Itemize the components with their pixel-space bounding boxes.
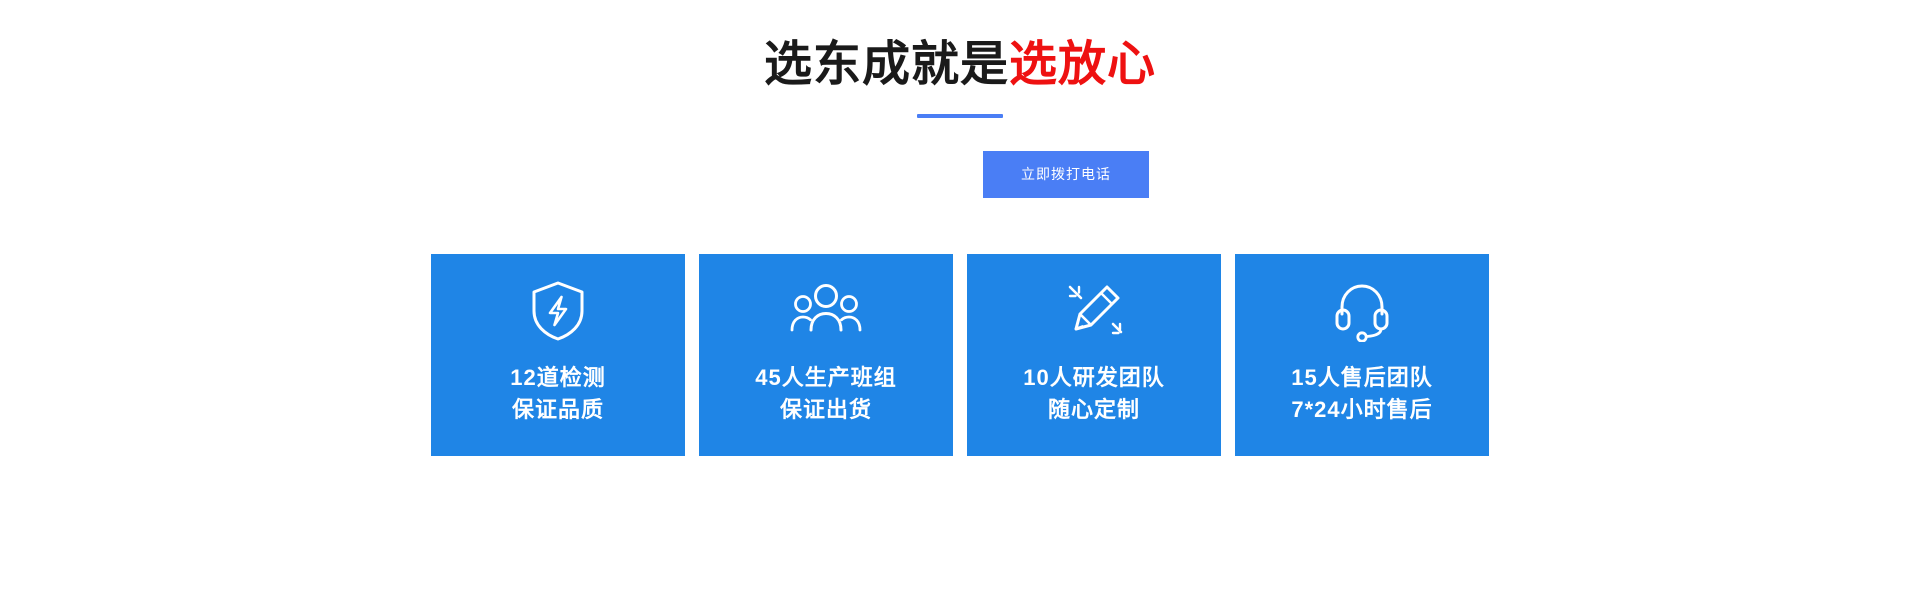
feature-card[interactable]: 12道检测保证品质: [431, 254, 685, 456]
feature-card-line-primary: 12道检测: [510, 362, 605, 394]
feature-card[interactable]: 15人售后团队7*24小时售后: [1235, 254, 1489, 456]
feature-card-text: 12道检测保证品质: [510, 362, 605, 426]
feature-card-line-secondary: 随心定制: [1023, 394, 1164, 426]
heading-block: 选东成就是选放心: [0, 0, 1920, 118]
title-divider: [917, 114, 1003, 118]
feature-card-text: 45人生产班组保证出货: [755, 362, 896, 426]
page-title-dark-text: 选东成就是: [764, 38, 1009, 91]
feature-card-line-secondary: 保证出货: [755, 394, 896, 426]
feature-card-line-primary: 10人研发团队: [1023, 362, 1164, 394]
feature-card-line-primary: 45人生产班组: [755, 362, 896, 394]
feature-card[interactable]: 45人生产班组保证出货: [699, 254, 953, 456]
pencil-design-icon: [1063, 276, 1125, 346]
feature-card[interactable]: 10人研发团队随心定制: [967, 254, 1221, 456]
page-title: 选东成就是选放心: [0, 39, 1920, 92]
cta-alignment-container: 立即拨打电话: [434, 151, 1487, 198]
cta-row: 立即拨打电话: [0, 151, 1920, 198]
feature-card-text: 10人研发团队随心定制: [1023, 362, 1164, 426]
people-group-icon: [789, 276, 863, 346]
feature-card-text: 15人售后团队7*24小时售后: [1291, 362, 1432, 426]
page-title-accent-text: 选放心: [1009, 38, 1156, 91]
feature-cards-list: 12道检测保证品质 45人生产班组保证出货 10人研发团队随心定制: [431, 254, 1489, 456]
feature-card-line-primary: 15人售后团队: [1291, 362, 1432, 394]
feature-card-line-secondary: 保证品质: [510, 394, 605, 426]
headset-support-icon: [1334, 276, 1390, 346]
feature-cards-section: 12道检测保证品质 45人生产班组保证出货 10人研发团队随心定制: [0, 254, 1920, 456]
feature-card-line-secondary: 7*24小时售后: [1291, 394, 1432, 426]
call-now-button[interactable]: 立即拨打电话: [983, 151, 1149, 198]
shield-lightning-icon: [530, 276, 586, 346]
promo-banner-page: 选东成就是选放心 立即拨打电话 12道检测保证品质 45人生产班组保证出货: [0, 0, 1920, 599]
